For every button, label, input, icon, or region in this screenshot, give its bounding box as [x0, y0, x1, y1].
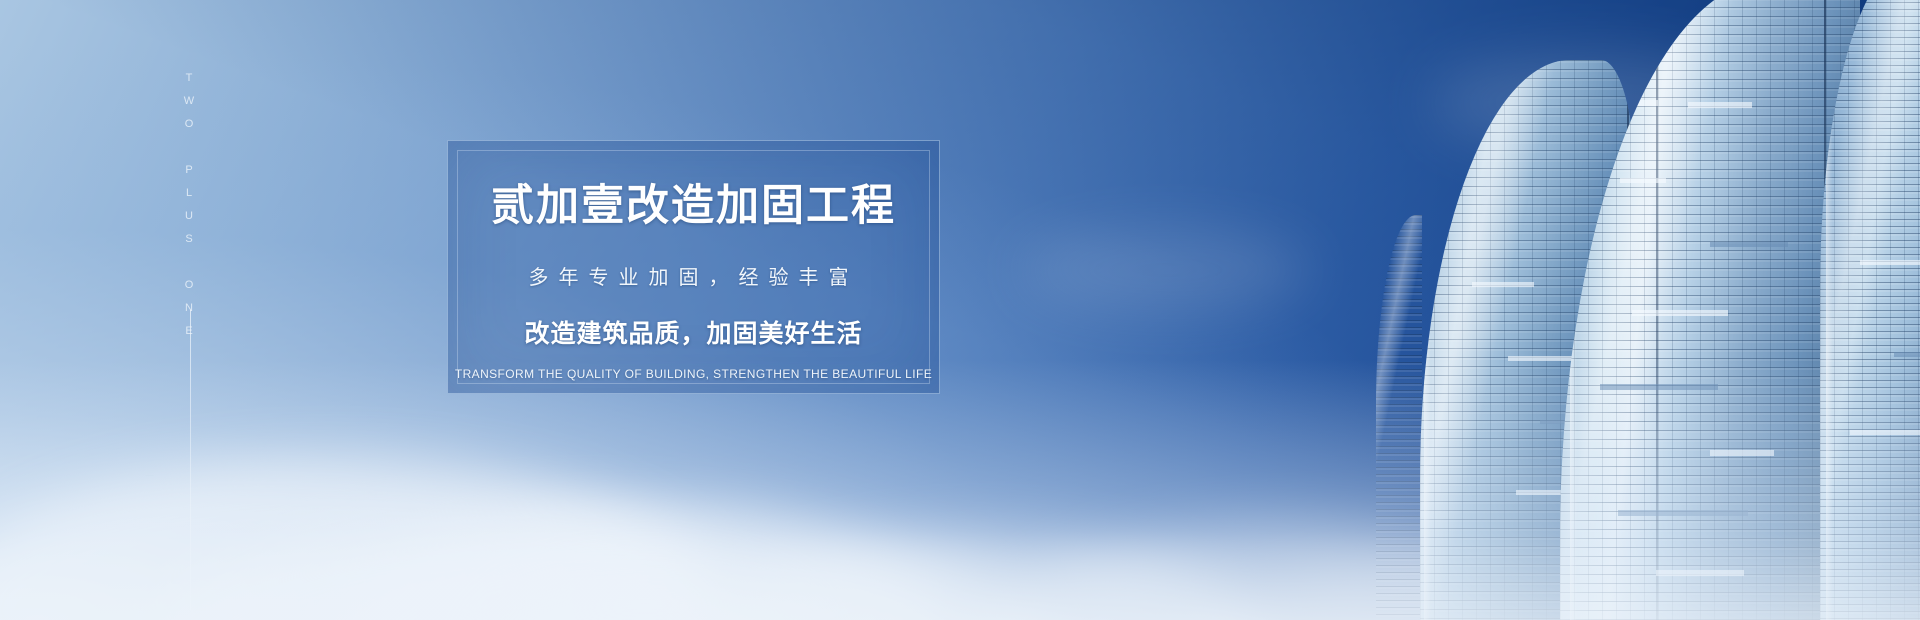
headline-panel-content: 贰加壹改造加固工程 多年专业加固，经验丰富 改造建筑品质，加固美好生活 TRAN…	[448, 141, 939, 393]
brand-vertical-text: TWO PLUS ONE	[183, 72, 195, 348]
tower-window-band	[1894, 352, 1920, 357]
cloud-haze-overlay	[0, 360, 1920, 620]
tower-window-band	[1606, 100, 1658, 106]
headline-panel: 贰加壹改造加固工程 多年专业加固，经验丰富 改造建筑品质，加固美好生活 TRAN…	[447, 140, 940, 394]
tower-window-band	[1860, 260, 1920, 265]
brand-mark-glyph: 二	[145, 466, 155, 479]
banner-title: 贰加壹改造加固工程	[491, 185, 896, 228]
tower-window-band	[1620, 178, 1666, 183]
banner-slogan-en: TRANSFORM THE QUALITY OF BUILDING, STREN…	[455, 367, 932, 381]
banner-slogan: 改造建筑品质，加固美好生活	[524, 314, 862, 350]
tower-window-band	[1472, 282, 1534, 287]
hero-banner: TWO PLUS ONE 二 贰加壹改造加固工程 多年专业加固，经验丰富 改造建…	[0, 0, 1920, 620]
tower-window-band	[1710, 242, 1788, 247]
tower-window-band	[1632, 310, 1728, 316]
tower-window-band	[1688, 102, 1752, 108]
brand-divider-line	[190, 310, 191, 610]
banner-subtitle: 多年专业加固，经验丰富	[529, 261, 859, 290]
